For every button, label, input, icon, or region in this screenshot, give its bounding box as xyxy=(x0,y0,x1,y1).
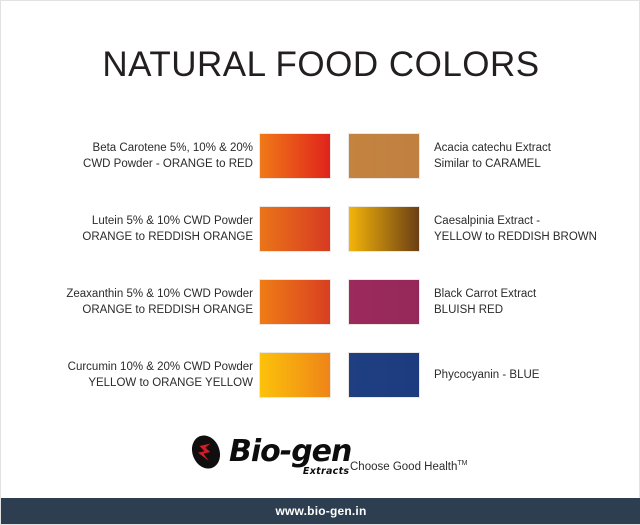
color-swatch-lutein xyxy=(259,206,331,252)
brand-wordmark: Bio-gen Extracts xyxy=(229,436,351,468)
product-label-caesalpinia: Caesalpinia Extract - YELLOW to REDDISH … xyxy=(434,213,597,245)
product-label-line1: Caesalpinia Extract - xyxy=(434,213,597,229)
brand-subtitle: Extracts xyxy=(303,466,349,477)
product-label-line2: ORANGE to REDDISH ORANGE xyxy=(82,229,253,245)
product-label-line1: Lutein 5% & 10% CWD Powder xyxy=(82,213,253,229)
product-label-line2: Similar to CARAMEL xyxy=(434,156,551,172)
product-label-zeaxanthin: Zeaxanthin 5% & 10% CWD Powder ORANGE to… xyxy=(66,286,253,318)
product-label-line1: Acacia catechu Extract xyxy=(434,140,551,156)
product-label-line1: Zeaxanthin 5% & 10% CWD Powder xyxy=(66,286,253,302)
product-label-phycocyanin: Phycocyanin - BLUE xyxy=(434,367,539,383)
product-label-line1: Black Carrot Extract xyxy=(434,286,536,302)
product-row: Beta Carotene 5%, 10% & 20% CWD Powder -… xyxy=(1,119,640,192)
color-swatch-caesalpinia xyxy=(348,206,420,252)
product-label-line1: Beta Carotene 5%, 10% & 20% xyxy=(83,140,253,156)
logo-block: Bio-gen Extracts Choose Good HealthTM xyxy=(1,433,640,489)
product-color-grid: Beta Carotene 5%, 10% & 20% CWD Powder -… xyxy=(1,119,640,411)
product-label-line2: YELLOW to ORANGE YELLOW xyxy=(68,375,253,391)
product-label-lutein: Lutein 5% & 10% CWD Powder ORANGE to RED… xyxy=(82,213,253,245)
color-swatch-black-carrot xyxy=(348,279,420,325)
product-row: Lutein 5% & 10% CWD Powder ORANGE to RED… xyxy=(1,192,640,265)
product-label-line2: BLUISH RED xyxy=(434,302,536,318)
product-row: Curcumin 10% & 20% CWD Powder YELLOW to … xyxy=(1,338,640,411)
product-label-line2: CWD Powder - ORANGE to RED xyxy=(83,156,253,172)
product-label-curcumin: Curcumin 10% & 20% CWD Powder YELLOW to … xyxy=(68,359,253,391)
color-swatch-phycocyanin xyxy=(348,352,420,398)
brand-tagline: Choose Good HealthTM xyxy=(350,460,468,473)
product-label-black-carrot: Black Carrot Extract BLUISH RED xyxy=(434,286,536,318)
product-label-line1: Phycocyanin - BLUE xyxy=(434,367,539,383)
trademark-symbol: TM xyxy=(457,460,467,467)
product-row: Zeaxanthin 5% & 10% CWD Powder ORANGE to… xyxy=(1,265,640,338)
website-url[interactable]: www.bio-gen.in xyxy=(275,504,366,518)
color-swatch-curcumin xyxy=(259,352,331,398)
brand-name: Bio-gen xyxy=(229,436,351,468)
biogen-emblem-icon xyxy=(187,433,225,471)
tagline-text: Choose Good Health xyxy=(350,461,457,473)
product-label-line1: Curcumin 10% & 20% CWD Powder xyxy=(68,359,253,375)
color-swatch-acacia-catechu xyxy=(348,133,420,179)
product-label-line2: ORANGE to REDDISH ORANGE xyxy=(66,302,253,318)
footer-bar: www.bio-gen.in xyxy=(1,498,640,524)
product-label-line2: YELLOW to REDDISH BROWN xyxy=(434,229,597,245)
brand-logo[interactable]: Bio-gen Extracts xyxy=(187,433,351,471)
poster-canvas: NATURAL FOOD COLORS Beta Carotene 5%, 10… xyxy=(0,0,640,525)
color-swatch-beta-carotene xyxy=(259,133,331,179)
product-label-beta-carotene: Beta Carotene 5%, 10% & 20% CWD Powder -… xyxy=(83,140,253,172)
product-label-acacia-catechu: Acacia catechu Extract Similar to CARAME… xyxy=(434,140,551,172)
page-title: NATURAL FOOD COLORS xyxy=(1,45,640,85)
color-swatch-zeaxanthin xyxy=(259,279,331,325)
